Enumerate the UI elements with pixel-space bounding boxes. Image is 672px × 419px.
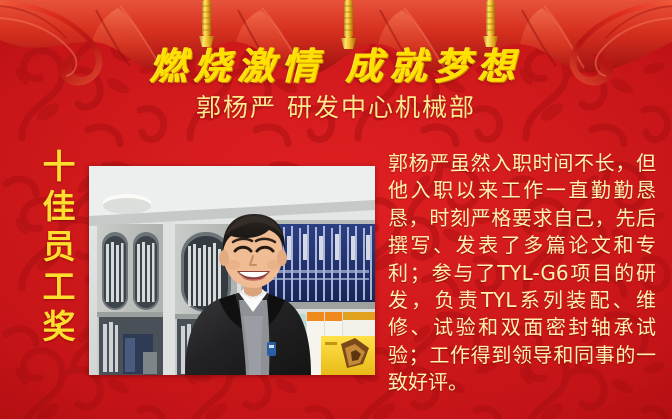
citation-paragraph: 郭杨严虽然入职时间不长，但他入职以来工作一直勤勤恳恳，时刻严格要求自己，先后撰写… xyxy=(388,150,656,397)
award-char-1: 十 xyxy=(43,148,76,186)
employee-photo xyxy=(89,166,375,375)
award-vertical-label: 十 佳 员 工 奖 xyxy=(38,148,80,346)
award-char-2: 佳 xyxy=(43,188,76,226)
award-poster: 燃烧激情 成就梦想 郭杨严 研发中心机械部 十 佳 员 工 奖 xyxy=(0,0,672,419)
citation-text-block: 郭杨严虽然入职时间不长，但他入职以来工作一直勤勤恳恳，时刻严格要求自己，先后撰写… xyxy=(388,150,656,397)
award-char-5: 奖 xyxy=(43,308,76,346)
award-char-4: 工 xyxy=(43,268,76,306)
award-char-3: 员 xyxy=(43,228,76,266)
